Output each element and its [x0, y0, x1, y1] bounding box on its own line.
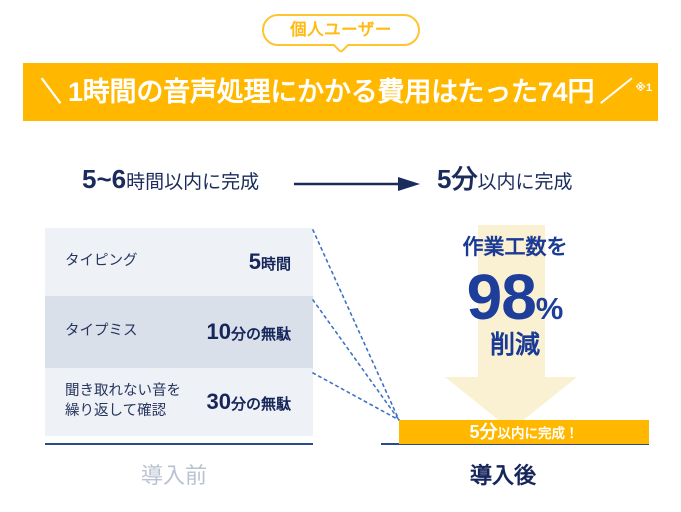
- table-row-value: 5 時間: [249, 251, 291, 273]
- headline-banner-inner: ＼ 1時間の音声処理にかかる費用はたった74円 ／ ※1: [29, 79, 652, 106]
- table-row: 聞き取れない音を 繰り返して確認 30 分の無駄: [45, 368, 313, 436]
- comparison-after-unit: 以内に完成: [477, 172, 572, 195]
- result-bar-unit: 以内に完成！: [498, 427, 579, 441]
- comparison-after: 5分 以内に完成: [437, 164, 572, 195]
- reduction-panel: 作業工数を 98 % 削減: [381, 225, 649, 430]
- table-row-value-unit: 時間: [261, 257, 291, 272]
- table-row-label: タイプミス: [65, 322, 138, 342]
- banner-footnote-marker: ※1: [635, 83, 652, 94]
- bubble-tail-icon: [326, 44, 356, 58]
- result-bar: 5分 以内に完成！: [399, 420, 649, 444]
- result-bar-number: 5分: [469, 423, 497, 441]
- comparison-headline-row: 5~6 時間以内に完成 5分 以内に完成: [0, 164, 681, 198]
- table-row-value-number: 5: [249, 251, 261, 273]
- banner-slash-left: ＼: [29, 79, 68, 106]
- before-task-table: タイピング 5 時間 タイプミス 10 分の無駄 聞き取れない音を 繰り返して確…: [45, 228, 313, 436]
- table-row-value: 30 分の無駄: [207, 391, 292, 413]
- footer-label-before: 導入前: [141, 465, 207, 487]
- table-row: タイピング 5 時間: [45, 228, 313, 296]
- audience-tag-bubble: 個人ユーザー: [262, 14, 420, 46]
- comparison-after-value: 5分: [437, 164, 477, 195]
- audience-tag-label: 個人ユーザー: [290, 22, 392, 39]
- table-row-label: タイピング: [65, 252, 138, 272]
- table-row-value: 10 分の無駄: [207, 321, 292, 343]
- banner-headline-text: 1時間の音声処理にかかる費用はたった74円: [68, 79, 594, 106]
- table-row-value-unit: 分の無駄: [231, 327, 291, 342]
- reduction-percent-symbol: %: [536, 293, 564, 324]
- comparison-before-unit: 時間以内に完成: [126, 172, 259, 195]
- table-row-value-number: 30: [207, 391, 231, 413]
- reduction-caption: 作業工数を: [381, 237, 649, 258]
- banner-slash-right: ／: [594, 79, 633, 106]
- comparison-before: 5~6 時間以内に完成: [82, 164, 259, 195]
- headline-banner: ＼ 1時間の音声処理にかかる費用はたった74円 ／ ※1: [23, 63, 658, 121]
- reduction-verb: 削減: [381, 333, 649, 358]
- reduction-percentage: 98 %: [381, 265, 649, 329]
- table-row: タイプミス 10 分の無駄: [45, 296, 313, 368]
- table-row-value-number: 10: [207, 321, 231, 343]
- reduction-number: 98: [467, 265, 536, 329]
- comparison-before-value: 5~6: [82, 164, 126, 195]
- table-row-value-unit: 分の無駄: [231, 397, 291, 412]
- result-bar-inner: 5分 以内に完成！: [469, 423, 578, 441]
- table-row-label: 聞き取れない音を 繰り返して確認: [65, 382, 181, 421]
- before-baseline: [45, 443, 313, 445]
- infographic-stage: 個人ユーザー ＼ 1時間の音声処理にかかる費用はたった74円 ／ ※1 5~6 …: [0, 0, 681, 512]
- arrow-right-icon: [294, 177, 420, 191]
- footer-label-after: 導入後: [470, 465, 536, 487]
